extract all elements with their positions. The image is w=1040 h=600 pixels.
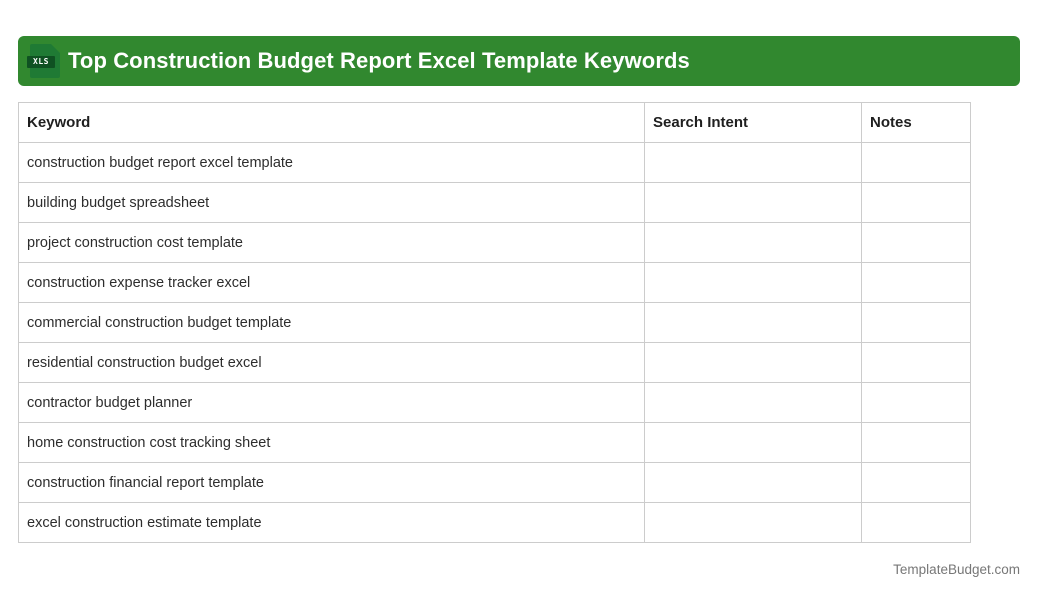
cell-search-intent[interactable] <box>645 183 862 223</box>
table-row: construction financial report template <box>19 463 971 503</box>
column-header-search-intent: Search Intent <box>645 103 862 143</box>
page-root: XLS Top Construction Budget Report Excel… <box>0 0 1040 600</box>
table-row: excel construction estimate template <box>19 503 971 543</box>
keywords-table: Keyword Search Intent Notes construction… <box>18 102 971 543</box>
xls-file-icon: XLS <box>30 44 60 78</box>
cell-notes[interactable] <box>862 263 971 303</box>
cell-notes[interactable] <box>862 463 971 503</box>
cell-search-intent[interactable] <box>645 263 862 303</box>
cell-keyword: project construction cost template <box>19 223 645 263</box>
table-row: commercial construction budget template <box>19 303 971 343</box>
cell-keyword: construction budget report excel templat… <box>19 143 645 183</box>
cell-search-intent[interactable] <box>645 463 862 503</box>
xls-file-icon-fold <box>51 44 60 53</box>
cell-notes[interactable] <box>862 143 971 183</box>
cell-notes[interactable] <box>862 343 971 383</box>
table-row: project construction cost template <box>19 223 971 263</box>
cell-keyword: home construction cost tracking sheet <box>19 423 645 463</box>
report-header-banner: XLS Top Construction Budget Report Excel… <box>18 36 1020 86</box>
cell-notes[interactable] <box>862 503 971 543</box>
table-row: construction expense tracker excel <box>19 263 971 303</box>
table-row: home construction cost tracking sheet <box>19 423 971 463</box>
xls-file-icon-label: XLS <box>27 56 55 68</box>
table-row: building budget spreadsheet <box>19 183 971 223</box>
cell-search-intent[interactable] <box>645 503 862 543</box>
cell-keyword: construction expense tracker excel <box>19 263 645 303</box>
cell-search-intent[interactable] <box>645 423 862 463</box>
cell-search-intent[interactable] <box>645 343 862 383</box>
cell-keyword: building budget spreadsheet <box>19 183 645 223</box>
cell-search-intent[interactable] <box>645 143 862 183</box>
table-head: Keyword Search Intent Notes <box>19 103 971 143</box>
table-row: contractor budget planner <box>19 383 971 423</box>
cell-notes[interactable] <box>862 223 971 263</box>
table-row: residential construction budget excel <box>19 343 971 383</box>
cell-notes[interactable] <box>862 383 971 423</box>
cell-notes[interactable] <box>862 183 971 223</box>
table-row: construction budget report excel templat… <box>19 143 971 183</box>
cell-keyword: excel construction estimate template <box>19 503 645 543</box>
column-header-keyword: Keyword <box>19 103 645 143</box>
cell-search-intent[interactable] <box>645 223 862 263</box>
cell-search-intent[interactable] <box>645 303 862 343</box>
table-body: construction budget report excel templat… <box>19 143 971 543</box>
cell-keyword: residential construction budget excel <box>19 343 645 383</box>
table-header-row: Keyword Search Intent Notes <box>19 103 971 143</box>
cell-keyword: commercial construction budget template <box>19 303 645 343</box>
cell-keyword: construction financial report template <box>19 463 645 503</box>
cell-search-intent[interactable] <box>645 383 862 423</box>
cell-keyword: contractor budget planner <box>19 383 645 423</box>
cell-notes[interactable] <box>862 423 971 463</box>
column-header-notes: Notes <box>862 103 971 143</box>
cell-notes[interactable] <box>862 303 971 343</box>
footer-site-credit: TemplateBudget.com <box>893 562 1020 577</box>
page-title: Top Construction Budget Report Excel Tem… <box>68 48 690 74</box>
